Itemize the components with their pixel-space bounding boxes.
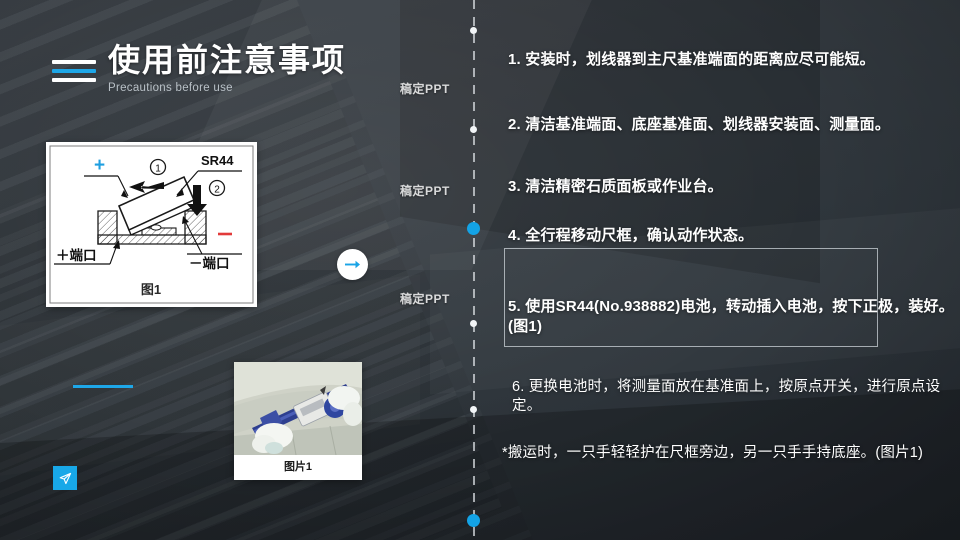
title-bar-white-top bbox=[52, 60, 96, 64]
send-icon[interactable] bbox=[53, 466, 77, 490]
svg-text:图1: 图1 bbox=[141, 282, 161, 297]
precaution-item-6: 6. 更换电池时，将测量面放在基准面上，按原点开关，进行原点设定。 bbox=[512, 378, 952, 417]
next-arrow-button[interactable] bbox=[337, 249, 368, 280]
svg-text:＋端口: ＋端口 bbox=[56, 247, 97, 263]
technical-figure-card: 1 2 + SR44 ＋端口 －端口 bbox=[46, 142, 257, 307]
battery-insertion-diagram: 1 2 + SR44 ＋端口 －端口 bbox=[46, 142, 257, 307]
precaution-item-1: 1. 安装时，划线器到主尺基准端面的距离应尽可能短。 bbox=[508, 50, 960, 70]
paper-plane-glyph bbox=[58, 471, 73, 486]
timeline-node-4[interactable] bbox=[470, 320, 477, 327]
svg-text:－端口: －端口 bbox=[189, 255, 230, 271]
slide-canvas: 使用前注意事项 Precautions before use bbox=[0, 0, 960, 540]
timeline-node-6-active[interactable] bbox=[467, 514, 480, 527]
svg-text:2: 2 bbox=[214, 185, 220, 196]
page-subtitle: Precautions before use bbox=[108, 82, 346, 94]
height-gauge-photo-illustration bbox=[234, 362, 362, 455]
precaution-item-4: 4. 全行程移动尺框，确认动作状态。 bbox=[508, 226, 960, 246]
precaution-item-2: 2. 清洁基准端面、底座基准面、划线器安装面、测量面。 bbox=[508, 115, 960, 135]
watermark-2: 稿定PPT bbox=[400, 182, 450, 199]
precautions-list: 1. 安装时，划线器到主尺基准端面的距离应尽可能短。 2. 清洁基准端面、底座基… bbox=[508, 0, 960, 540]
precaution-item-5: 5. 使用SR44(No.938882)电池，转动插入电池，按下正极，装好。(图… bbox=[508, 297, 960, 337]
blue-divider-line bbox=[73, 385, 133, 388]
title-bar-white-bottom bbox=[52, 78, 96, 82]
photo-caption: 图片1 bbox=[234, 455, 362, 480]
watermark-3: 稿定PPT bbox=[400, 290, 450, 307]
page-title-block: 使用前注意事项 Precautions before use bbox=[108, 44, 346, 94]
photo-image bbox=[234, 362, 362, 455]
timeline-node-2[interactable] bbox=[470, 126, 477, 133]
title-decoration-mark bbox=[52, 60, 96, 87]
svg-text:SR44: SR44 bbox=[201, 153, 234, 168]
page-title: 使用前注意事项 bbox=[108, 44, 346, 78]
timeline-node-5[interactable] bbox=[470, 406, 477, 413]
precaution-item-3: 3. 清洁精密石质面板或作业台。 bbox=[508, 177, 960, 197]
title-bar-blue bbox=[52, 69, 96, 73]
svg-text:+: + bbox=[94, 155, 105, 176]
photo-card: 图片1 bbox=[234, 362, 362, 480]
watermark-1: 稿定PPT bbox=[400, 80, 450, 97]
precaution-note: *搬运时，一只手轻轻护在尺框旁边，另一只手手持底座。(图片1) bbox=[502, 444, 942, 463]
timeline-node-3-active[interactable] bbox=[467, 222, 480, 235]
arrow-right-icon bbox=[344, 259, 361, 270]
timeline-dashed-line bbox=[473, 0, 475, 540]
svg-text:1: 1 bbox=[155, 164, 161, 175]
timeline-node-1[interactable] bbox=[470, 27, 477, 34]
